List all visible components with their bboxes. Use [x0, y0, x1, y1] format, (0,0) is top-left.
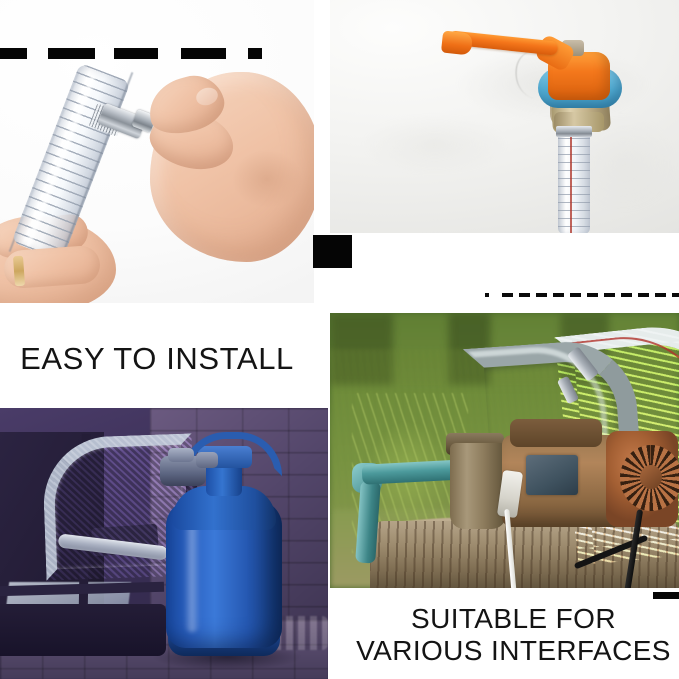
- black-square-accent: [313, 235, 352, 268]
- grill-base: [0, 604, 166, 656]
- dash-segment-1: [48, 48, 95, 59]
- dash-segment-0: [485, 293, 489, 297]
- wall-texture: [330, 0, 679, 233]
- clear-hose: [558, 122, 590, 233]
- dashed-rule-right: [485, 293, 679, 297]
- suitable-caption: SUITABLE FOR VARIOUS INTERFACES: [348, 596, 679, 674]
- dash-segment-0: [0, 48, 27, 59]
- regulator-fitting: [196, 452, 218, 468]
- dash-segment-7: [604, 293, 615, 297]
- water-pump-photo: [330, 313, 679, 588]
- dash-segment-1: [502, 293, 513, 297]
- dash-segment-10: [655, 293, 666, 297]
- install-caption: EASY TO INSTALL: [0, 326, 314, 392]
- dash-segment-3: [181, 48, 226, 59]
- suitable-caption-line1: SUITABLE FOR: [411, 603, 616, 635]
- valve-photo: [330, 0, 679, 233]
- pump-motor-top-cover: [510, 419, 602, 447]
- lever-grip-tip: [441, 30, 473, 55]
- dash-segment-4: [553, 293, 564, 297]
- knuckle-shadow: [232, 150, 302, 208]
- dash-segment-8: [621, 293, 632, 297]
- infographic-canvas: EASY TO INSTALL: [0, 0, 679, 679]
- pump-inlet-housing: [450, 443, 506, 529]
- dash-segment-3: [536, 293, 547, 297]
- dash-segment-9: [638, 293, 649, 297]
- dashed-rule-top-left: [0, 48, 262, 59]
- gas-cylinder-photo: [0, 408, 328, 679]
- hose-red-stripe: [570, 124, 572, 233]
- motor-fan-hub: [640, 465, 662, 489]
- suitable-caption-line2: VARIOUS INTERFACES: [356, 635, 671, 667]
- dash-segment-2: [114, 48, 158, 59]
- dash-segment-6: [587, 293, 598, 297]
- regulator-cap: [168, 448, 194, 462]
- dash-segment-2: [519, 293, 530, 297]
- motor-terminal-box: [526, 455, 578, 495]
- hose-clamp: [556, 126, 592, 137]
- dash-segment-11: [672, 293, 679, 297]
- install-caption-text: EASY TO INSTALL: [20, 341, 294, 377]
- dash-segment-5: [570, 293, 581, 297]
- install-photo: [0, 0, 314, 303]
- dash-segment-4: [248, 48, 262, 59]
- finger-ring: [13, 256, 25, 287]
